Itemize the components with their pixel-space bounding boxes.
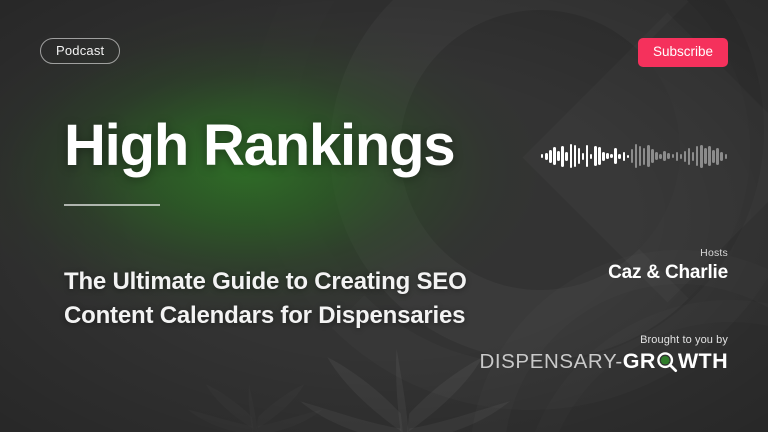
waveform-bar bbox=[590, 154, 592, 159]
waveform-bar bbox=[614, 148, 616, 164]
waveform-bar bbox=[667, 153, 669, 159]
brand-logo-dispensary-text: DISPENSARY- bbox=[479, 352, 622, 373]
waveform-bar bbox=[647, 145, 649, 167]
waveform-bar bbox=[704, 148, 706, 164]
waveform-bar bbox=[720, 152, 722, 161]
waveform-bar bbox=[594, 146, 596, 166]
brand-kicker-label: Brought to you by bbox=[479, 334, 728, 347]
waveform-bar bbox=[631, 149, 633, 163]
waveform-bar bbox=[663, 151, 665, 161]
waveform-bar bbox=[582, 153, 584, 160]
waveform-bar bbox=[623, 152, 625, 161]
waveform-bar bbox=[643, 148, 645, 165]
episode-subtitle: The Ultimate Guide to Creating SEO Conte… bbox=[64, 265, 484, 333]
waveform-bar bbox=[570, 144, 572, 168]
waveform-bar bbox=[692, 152, 694, 161]
audio-waveform-icon[interactable] bbox=[541, 140, 727, 172]
waveform-bar bbox=[725, 154, 727, 159]
magnifying-glass-leaf-icon bbox=[656, 351, 678, 373]
waveform-bar bbox=[639, 146, 641, 166]
waveform-bar bbox=[672, 154, 674, 158]
brand-logo-wth-text: WTH bbox=[678, 351, 728, 373]
waveform-bar bbox=[708, 146, 710, 166]
waveform-bar bbox=[545, 153, 547, 160]
hosts-names: Caz & Charlie bbox=[608, 261, 728, 285]
brand-logo[interactable]: DISPENSARY- GR bbox=[479, 351, 728, 373]
waveform-bar bbox=[565, 152, 567, 161]
waveform-bar bbox=[549, 150, 551, 163]
waveform-bar bbox=[574, 145, 576, 167]
waveform-bar bbox=[553, 147, 555, 165]
waveform-bar bbox=[557, 151, 559, 161]
waveform-bar bbox=[680, 154, 682, 159]
podcast-badge[interactable]: Podcast bbox=[40, 38, 120, 64]
waveform-bar bbox=[716, 148, 718, 165]
waveform-bar bbox=[618, 154, 620, 159]
waveform-bar bbox=[635, 144, 637, 168]
waveform-bar bbox=[578, 148, 580, 164]
waveform-bar bbox=[684, 151, 686, 162]
page-title: High Rankings bbox=[64, 116, 454, 177]
waveform-bar bbox=[655, 152, 657, 160]
waveform-bar bbox=[700, 145, 702, 168]
waveform-bar bbox=[602, 152, 604, 161]
waveform-bar bbox=[598, 147, 600, 165]
brand-block: Brought to you by DISPENSARY- GR bbox=[479, 334, 728, 373]
waveform-bar bbox=[659, 154, 661, 159]
hosts-block: Hosts Caz & Charlie bbox=[608, 248, 728, 284]
title-divider bbox=[64, 204, 160, 206]
waveform-bar bbox=[651, 149, 653, 163]
podcast-cover-card: Podcast Subscribe High Rankings The Ulti… bbox=[0, 0, 768, 432]
waveform-bar bbox=[586, 145, 588, 167]
waveform-bar bbox=[676, 152, 678, 161]
waveform-bar bbox=[627, 155, 629, 158]
waveform-bar bbox=[606, 153, 608, 159]
waveform-bar bbox=[541, 154, 543, 158]
waveform-bar bbox=[712, 150, 714, 163]
waveform-bar bbox=[696, 146, 698, 166]
subscribe-button[interactable]: Subscribe bbox=[638, 38, 728, 67]
waveform-bar bbox=[610, 154, 612, 158]
brand-logo-gr-text: GR bbox=[623, 351, 656, 373]
hosts-label: Hosts bbox=[608, 248, 728, 260]
waveform-bar bbox=[561, 146, 563, 167]
waveform-bar bbox=[688, 148, 690, 165]
